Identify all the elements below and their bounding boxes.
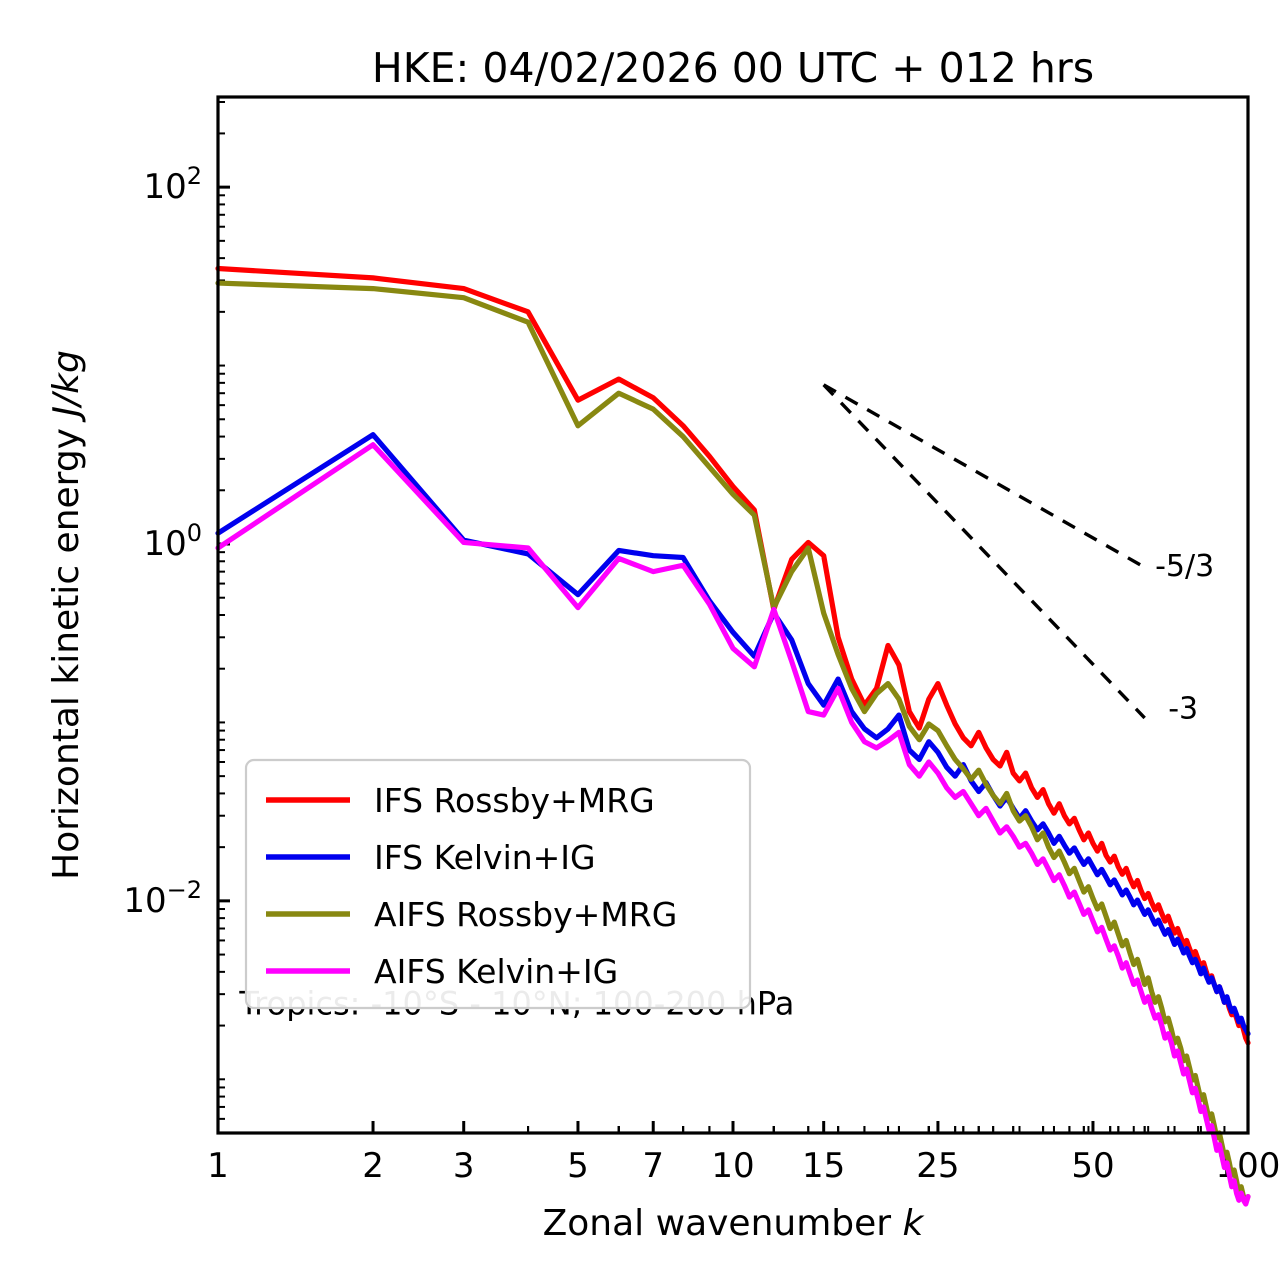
y-tick-exponent: −2	[167, 876, 202, 904]
x-tick-label: 2	[362, 1146, 384, 1186]
y-axis-label-plain: Horizontal kinetic energy	[46, 417, 87, 880]
legend-label: IFS Rossby+MRG	[374, 781, 655, 820]
data-series-layer	[218, 268, 1248, 1204]
y-tick-exponent: 2	[187, 162, 202, 190]
x-tick-label: 25	[916, 1146, 959, 1186]
x-tick-label: 10	[711, 1146, 754, 1186]
legend-label: IFS Kelvin+IG	[374, 838, 596, 877]
slope-label-3: -3	[1168, 692, 1198, 727]
legend-label: AIFS Rossby+MRG	[374, 895, 677, 934]
x-axis-label-plain: Zonal wavenumber	[543, 1203, 903, 1244]
chart-title: HKE: 04/02/2026 00 UTC + 012 hrs	[372, 44, 1094, 92]
y-tick-base: 10	[143, 524, 186, 564]
y-axis-label: Horizontal kinetic energy J/kg	[46, 350, 87, 880]
reference-lines-layer	[824, 385, 1145, 718]
x-axis-label-symbol: k	[903, 1203, 926, 1244]
y-tick-exponent: 0	[187, 519, 202, 547]
chart-figure: HKE: 04/02/2026 00 UTC + 012 hrs Horizon…	[0, 0, 1280, 1288]
x-tick-label: 50	[1071, 1146, 1114, 1186]
legend[interactable]: IFS Rossby+MRGIFS Kelvin+IGAIFS Rossby+M…	[246, 760, 750, 1008]
y-axis-label-unit: J/kg	[46, 350, 87, 422]
x-tick-label: 1	[207, 1146, 229, 1186]
x-axis-label: Zonal wavenumber k	[543, 1203, 926, 1244]
y-tick-base: 10	[143, 167, 186, 207]
slope-label-5-3: -5/3	[1155, 549, 1214, 584]
legend-label: AIFS Kelvin+IG	[374, 952, 618, 991]
x-tick-label: 3	[453, 1146, 475, 1186]
slope-minus-5-3	[824, 385, 1145, 568]
slope-minus-3	[824, 385, 1145, 718]
axis-tick-labels-layer: 123571015255010010210010−2	[123, 162, 1280, 1186]
y-tick-label: 100	[143, 519, 202, 564]
y-tick-base: 10	[123, 881, 166, 921]
chart-canvas: HKE: 04/02/2026 00 UTC + 012 hrs Horizon…	[0, 0, 1280, 1288]
y-tick-label: 102	[143, 162, 202, 207]
series-line-aifs-rossby-mrg	[218, 283, 1248, 1200]
y-tick-label: 10−2	[123, 876, 202, 921]
x-tick-label: 5	[567, 1146, 589, 1186]
x-tick-label: 15	[802, 1146, 845, 1186]
x-tick-label: 7	[642, 1146, 664, 1186]
